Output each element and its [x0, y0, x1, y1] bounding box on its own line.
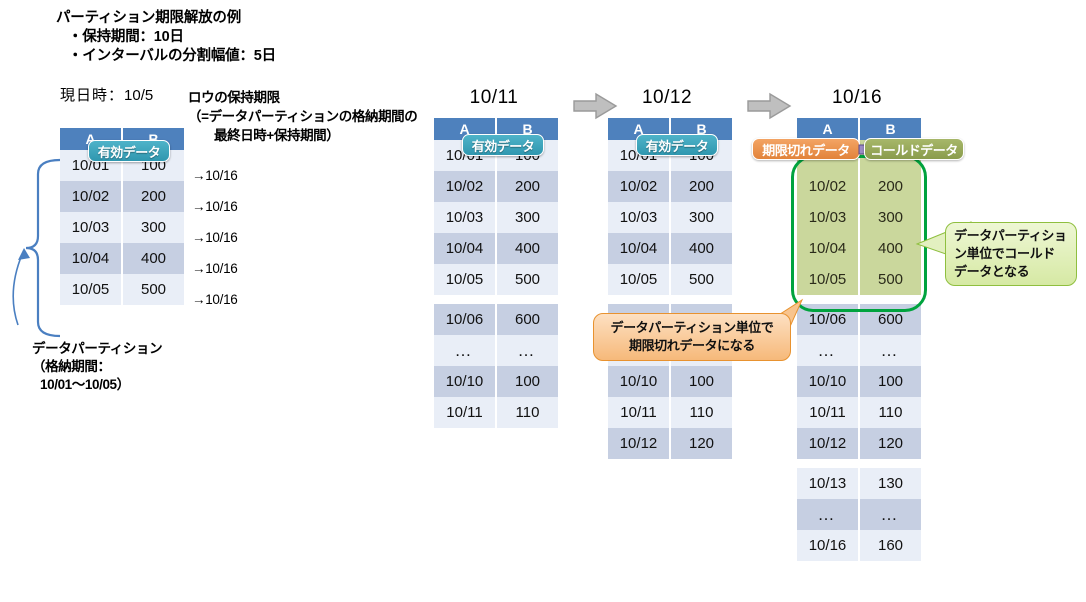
callout-cold-line3: データとなる — [954, 263, 1067, 281]
table-cell-a: 10/04 — [60, 243, 121, 274]
callout-cold-line1: データパーティショ — [954, 227, 1067, 245]
row-retention-note-line1: ロウの保持期限 — [188, 88, 417, 107]
row-expiry-1: →10/16 — [192, 191, 237, 222]
table-1016: AB10/0110010/0220010/0330010/0440010/055… — [797, 118, 921, 561]
table-cell-b: 120 — [671, 428, 732, 459]
table-cell-a: 10/10 — [797, 366, 858, 397]
current-datetime-value: 10/5 — [124, 87, 153, 104]
row-expiry-3: →10/16 — [192, 253, 237, 284]
table-row: 10/16160 — [797, 530, 921, 561]
table-row: 10/11110 — [608, 397, 732, 428]
table-cell-a: 10/12 — [797, 428, 858, 459]
table-cell-a: 10/02 — [797, 171, 858, 202]
row-retention-note: ロウの保持期限 （=データパーティションの格納期間の 最終日時+保持期間） — [188, 88, 417, 145]
page-title: パーティション期限解放の例 — [56, 6, 241, 27]
table-header-row: AB — [797, 118, 921, 140]
table-cell-a: 10/04 — [434, 233, 495, 264]
table-row: 10/04400 — [608, 233, 732, 264]
table-cell-b: 500 — [497, 264, 558, 295]
table-cell-a: 10/03 — [60, 212, 121, 243]
table-cell-b: 200 — [497, 171, 558, 202]
flow-arrow-2-icon — [746, 92, 794, 122]
table-cell-a: 10/04 — [608, 233, 669, 264]
table-cell-a: 10/10 — [434, 366, 495, 397]
badge-expired-data: 期限切れデータ — [752, 138, 860, 160]
data-partition-label-line3: 10/01～10/05） — [32, 376, 162, 394]
column-header-a: A — [797, 118, 858, 140]
table-row: 10/11110 — [797, 397, 921, 428]
table-row: 10/12120 — [608, 428, 732, 459]
badge-valid-data-2: 有効データ — [462, 134, 544, 156]
table-cell-a: 10/16 — [797, 530, 858, 561]
table-cell-a: 10/05 — [608, 264, 669, 295]
table-row: 10/03300 — [60, 212, 184, 243]
row-expiry-list: →10/16→10/16→10/16→10/16→10/16 — [192, 160, 237, 315]
table-row: 10/02200 — [797, 171, 921, 202]
table-cell-a: 10/03 — [797, 202, 858, 233]
table-cell-b: 500 — [123, 274, 184, 305]
table-1011: AB10/0110010/0220010/0330010/0440010/055… — [434, 118, 558, 428]
column-header-b: B — [860, 118, 921, 140]
table-row: 10/03300 — [797, 202, 921, 233]
table-cell-a: 10/06 — [434, 304, 495, 335]
table-cell-a: 10/02 — [434, 171, 495, 202]
callout-cold-partition: データパーティショ ン単位でコールド データとなる — [945, 222, 1077, 286]
table-row: 10/13130 — [797, 468, 921, 499]
table-group-gap — [797, 459, 921, 468]
table-cell-b: 400 — [123, 243, 184, 274]
table-cell-b: 400 — [497, 233, 558, 264]
table-1012: AB10/0110010/0220010/0330010/0440010/055… — [608, 118, 732, 459]
table-row: 10/11110 — [434, 397, 558, 428]
table-cell-b: 110 — [671, 397, 732, 428]
table-cell-b: 110 — [860, 397, 921, 428]
table-cell-a: 10/11 — [608, 397, 669, 428]
table-cell-a: 10/13 — [797, 468, 858, 499]
table-row: 10/04400 — [434, 233, 558, 264]
current-datetime-label: 現日時： — [60, 84, 124, 105]
table-cell-b: … — [497, 335, 558, 366]
badge-cold-data: コールドデータ — [864, 138, 964, 160]
table-row: 10/02200 — [60, 181, 184, 212]
table-cell-a: 10/05 — [60, 274, 121, 305]
callout-expired-partition: データパーティション単位で 期限切れデータになる — [593, 313, 791, 361]
header-bullet-interval: ・インターバルの分割幅値：5日 — [68, 44, 276, 65]
table-cell-b: 200 — [123, 181, 184, 212]
table-cell-b: 600 — [860, 304, 921, 335]
table-cell-a: 10/12 — [608, 428, 669, 459]
table-cell-b: 300 — [860, 202, 921, 233]
table-cell-a: 10/02 — [608, 171, 669, 202]
table-row: 10/04400 — [797, 233, 921, 264]
table-cell-b: 110 — [497, 397, 558, 428]
date-header-1012: 10/12 — [607, 87, 727, 109]
table-cell-a: 10/03 — [608, 202, 669, 233]
table-cell-b: 100 — [497, 366, 558, 397]
table-cell-b: 600 — [497, 304, 558, 335]
callout-expired-line1: データパーティション単位で — [610, 319, 773, 337]
table-cell-b: 160 — [860, 530, 921, 561]
row-retention-note-line3: 最終日時+保持期間） — [188, 126, 417, 145]
callout-expired-line2: 期限切れデータになる — [610, 337, 773, 355]
badge-valid-data-1: 有効データ — [88, 140, 170, 162]
table-row: …… — [434, 335, 558, 366]
table-row: 10/04400 — [60, 243, 184, 274]
table-cell-a: … — [797, 499, 858, 530]
table-cell-b: 500 — [671, 264, 732, 295]
table-cell-b: 400 — [671, 233, 732, 264]
row-expiry-2: →10/16 — [192, 222, 237, 253]
table-row: 10/05500 — [797, 264, 921, 295]
row-retention-note-line2: （=データパーティションの格納期間の — [188, 107, 417, 126]
table-cell-b: 100 — [671, 366, 732, 397]
table-row: 10/06600 — [434, 304, 558, 335]
table-cell-a: 10/02 — [60, 181, 121, 212]
callout-cold-line2: ン単位でコールド — [954, 245, 1067, 263]
table-cell-b: 300 — [123, 212, 184, 243]
table-cell-a: 10/04 — [797, 233, 858, 264]
header-bullet-retention: ・保持期間：10日 — [68, 25, 184, 46]
badge-valid-data-3: 有効データ — [636, 134, 718, 156]
table-cell-b: … — [860, 499, 921, 530]
table-cell-b: 130 — [860, 468, 921, 499]
current-datetime: 現日時： 10/5 — [60, 84, 153, 105]
table-row: 10/10100 — [797, 366, 921, 397]
table-cell-a: … — [434, 335, 495, 366]
table-cell-b: 300 — [497, 202, 558, 233]
table-group-gap — [434, 295, 558, 304]
table-cell-a: 10/05 — [434, 264, 495, 295]
table-row: 10/02200 — [434, 171, 558, 202]
table-cell-b: … — [860, 335, 921, 366]
table-group-gap — [797, 295, 921, 304]
table-cell-b: 200 — [671, 171, 732, 202]
table-cell-b: 400 — [860, 233, 921, 264]
table-cell-a: 10/11 — [797, 397, 858, 428]
table-row: …… — [797, 335, 921, 366]
row-expiry-0: →10/16 — [192, 160, 237, 191]
table-row: 10/05500 — [434, 264, 558, 295]
table-cell-b: 120 — [860, 428, 921, 459]
table-cell-b: 100 — [860, 366, 921, 397]
table-cell-b: 300 — [671, 202, 732, 233]
table-cell-b: 500 — [860, 264, 921, 295]
table-row: 10/05500 — [608, 264, 732, 295]
table-row: …… — [797, 499, 921, 530]
table-row: 10/12120 — [797, 428, 921, 459]
table-cell-a: 10/10 — [608, 366, 669, 397]
table-row: 10/06600 — [797, 304, 921, 335]
table-cell-b: 200 — [860, 171, 921, 202]
table-row: 10/03300 — [434, 202, 558, 233]
date-header-1011: 10/11 — [434, 87, 554, 109]
table-cell-a: 10/03 — [434, 202, 495, 233]
date-header-1016: 10/16 — [797, 87, 917, 109]
table-row: 10/03300 — [608, 202, 732, 233]
table-row: 10/10100 — [608, 366, 732, 397]
row-expiry-4: →10/16 — [192, 284, 237, 315]
table-row: 10/05500 — [60, 274, 184, 305]
table-row: 10/02200 — [608, 171, 732, 202]
table-cell-a: 10/05 — [797, 264, 858, 295]
table-row: 10/10100 — [434, 366, 558, 397]
table-cell-a: 10/11 — [434, 397, 495, 428]
table-group-gap — [608, 295, 732, 304]
